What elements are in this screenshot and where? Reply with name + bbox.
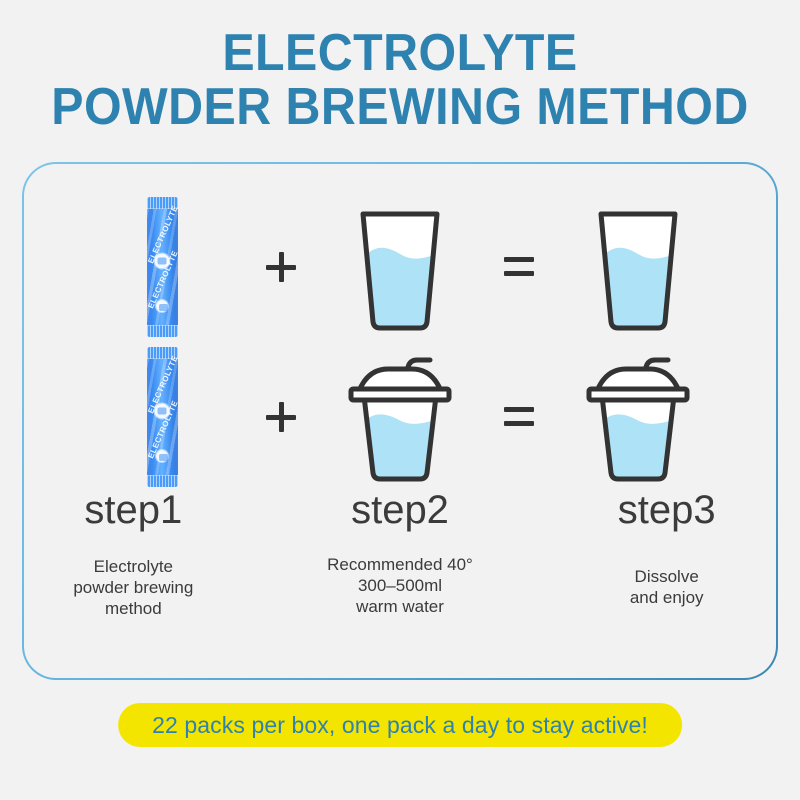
operator-plus-top bbox=[242, 194, 320, 339]
equation-row-glass: ELECTROLYTE ELECTROLYTE bbox=[24, 194, 776, 339]
sachet-cell-bottom: ELECTROLYTE ELECTROLYTE bbox=[82, 344, 242, 489]
mixed-cup-cell bbox=[558, 344, 718, 489]
operator-equals-bottom bbox=[480, 344, 558, 489]
operator-equals-top bbox=[480, 194, 558, 339]
sachet-logo-icon bbox=[155, 403, 170, 418]
step-column-2: step2 Recommended 40° 300–500ml warm wat… bbox=[267, 488, 534, 619]
equals-icon bbox=[504, 407, 534, 427]
step-column-3: step3 Dissolve and enjoy bbox=[533, 488, 800, 619]
mixed-glass-icon bbox=[583, 202, 693, 332]
step-2-description: Recommended 40° 300–500ml warm water bbox=[267, 554, 534, 617]
step-3-title: step3 bbox=[533, 488, 800, 532]
title-line-2: POWDER BREWING METHOD bbox=[28, 80, 772, 134]
plus-icon bbox=[266, 402, 296, 432]
equals-icon bbox=[504, 257, 534, 277]
equation-row-cup: ELECTROLYTE ELECTROLYTE bbox=[24, 344, 776, 489]
glass-svg bbox=[345, 202, 455, 332]
step-3-description: Dissolve and enjoy bbox=[533, 566, 800, 608]
cup-svg bbox=[338, 349, 462, 485]
promo-banner: 22 packs per box, one pack a day to stay… bbox=[118, 703, 682, 747]
sachet-icon: ELECTROLYTE ELECTROLYTE bbox=[147, 347, 178, 487]
step-1-title: step1 bbox=[0, 488, 267, 532]
mixed-glass-cell bbox=[558, 194, 718, 339]
cup-result-svg bbox=[576, 349, 700, 485]
mixed-cup-icon bbox=[576, 349, 700, 485]
promo-banner-text: 22 packs per box, one pack a day to stay… bbox=[152, 712, 648, 739]
operator-plus-bottom bbox=[242, 344, 320, 489]
sachet-logo-secondary-icon bbox=[156, 300, 168, 312]
steps-row: step1 Electrolyte powder brewing method … bbox=[0, 488, 800, 619]
step-column-1: step1 Electrolyte powder brewing method bbox=[0, 488, 267, 619]
title-line-1: ELECTROLYTE bbox=[28, 26, 772, 80]
step-1-description: Electrolyte powder brewing method bbox=[0, 556, 267, 619]
plus-icon bbox=[266, 252, 296, 282]
sachet-cell-top: ELECTROLYTE ELECTROLYTE bbox=[82, 194, 242, 339]
sachet-logo-icon bbox=[155, 253, 170, 268]
water-cup-icon bbox=[338, 349, 462, 485]
glass-result-svg bbox=[583, 202, 693, 332]
water-glass-cell bbox=[320, 194, 480, 339]
water-cup-cell bbox=[320, 344, 480, 489]
page-title: ELECTROLYTE POWDER BREWING METHOD bbox=[0, 26, 800, 134]
water-glass-icon bbox=[345, 202, 455, 332]
sachet-logo-secondary-icon bbox=[156, 450, 168, 462]
sachet-icon: ELECTROLYTE ELECTROLYTE bbox=[147, 197, 178, 337]
step-2-title: step2 bbox=[267, 488, 534, 532]
